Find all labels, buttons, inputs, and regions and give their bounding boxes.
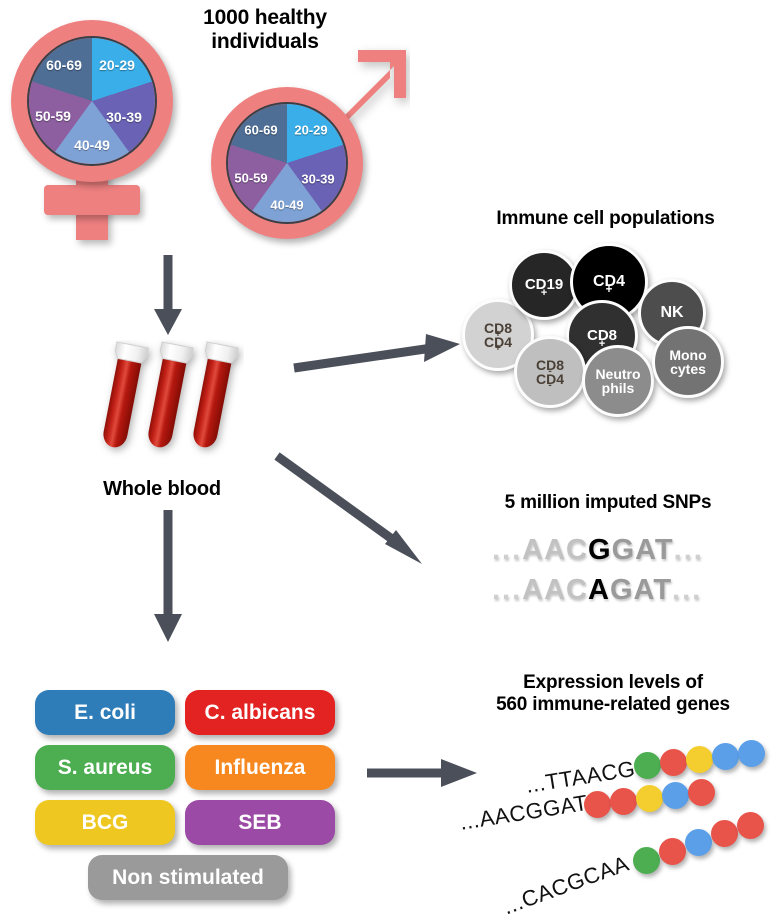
snp-row1-right: GAT (612, 534, 674, 566)
snp-title: 5 million imputed SNPs (458, 492, 758, 514)
stimulus-seb[interactable]: SEB (185, 800, 335, 845)
cell-monocytes-line2: cytes (669, 362, 706, 376)
immune-populations-title: Immune cell populations (443, 208, 768, 230)
expression-strand-2-bead-2 (610, 788, 637, 815)
expression-strand-2-sequence: ...AACGGAT (458, 790, 590, 836)
male-pie-label-60-69: 60-69 (244, 123, 277, 138)
snp-row1-left: AAC (522, 534, 588, 566)
female-pie-label-40-49: 40-49 (74, 137, 110, 153)
female-pie-label-20-29: 20-29 (99, 57, 135, 73)
expression-title-line2: 560 immune-related genes (458, 694, 768, 716)
cell-cd8pos-cd4pos-line1: CD8+ (484, 321, 512, 335)
cell-monocytes: Mono cytes (652, 326, 724, 398)
page-title-line1: 1000 healthy (170, 6, 360, 30)
female-pie-label-30-39: 30-39 (106, 109, 142, 125)
snp-row1-prefix: ... (492, 534, 522, 566)
snp-row2-variant: A (588, 574, 610, 606)
whole-blood-label: Whole blood (62, 478, 262, 501)
male-pie-label-50-59: 50-59 (234, 171, 267, 186)
expression-strand-3-bead-3 (685, 829, 712, 856)
stimulus-non-stimulated[interactable]: Non stimulated (88, 855, 288, 900)
snp-row1-suffix: ... (674, 534, 704, 566)
cell-cd8pos-label: CD8+ (587, 328, 617, 343)
cell-nk-label: NK (660, 305, 683, 321)
stimulus-bcg-label: BCG (82, 811, 129, 835)
expression-strand-2-bead-3 (636, 785, 663, 812)
expression-strand-3-bead-1 (633, 847, 660, 874)
cell-neutrophils: Neutro phils (582, 345, 654, 417)
cell-cd8neg-cd4neg-line2: CD4- (536, 372, 564, 386)
expression-strand-2-bead-5 (688, 779, 715, 806)
arrow-blood-to-snp (275, 452, 450, 582)
stimulus-s-aureus-label: S. aureus (58, 756, 153, 780)
expression-strand-3-bead-2 (659, 838, 686, 865)
stimulus-e-coli[interactable]: E. coli (35, 690, 175, 735)
expression-strand-2-bead-4 (662, 782, 689, 809)
stimulus-bcg[interactable]: BCG (35, 800, 175, 845)
female-pie-label-50-59: 50-59 (35, 108, 71, 124)
whole-blood-tubes (94, 340, 244, 465)
stimulus-s-aureus[interactable]: S. aureus (35, 745, 175, 790)
cell-neutrophils-line2: phils (595, 381, 640, 395)
male-pie-label-40-49: 40-49 (270, 198, 303, 213)
stimulus-influenza-label: Influenza (214, 756, 305, 780)
arrow-cohort-to-blood (148, 255, 188, 345)
snp-sequence-row-2: ...AACAGAT... (492, 574, 702, 607)
cell-cd19pos-label: CD19+ (525, 277, 563, 292)
female-symbol-ring: 20-29 30-39 40-49 50-59 60-69 (11, 20, 173, 182)
stimulus-c-albicans-label: C. albicans (205, 701, 316, 725)
stimulus-e-coli-label: E. coli (74, 701, 136, 725)
male-symbol-ring: 20-29 30-39 40-49 50-59 60-69 (211, 87, 363, 239)
arrow-blood-to-stimuli (148, 510, 188, 650)
expression-title: Expression levels of 560 immune-related … (458, 672, 768, 716)
female-symbol-crossbar (44, 185, 140, 215)
female-gender-symbol: 20-29 30-39 40-49 50-59 60-69 (8, 14, 188, 244)
expression-strand-1-bead-1 (634, 752, 661, 779)
cell-neutrophils-line1: Neutro (595, 367, 640, 381)
expression-strand-2-bead-1 (584, 791, 611, 818)
cell-cd19pos: CD19+ (509, 250, 579, 320)
expression-strand-1-bead-4 (712, 743, 739, 770)
male-gender-symbol: 20-29 30-39 40-49 50-59 60-69 (205, 45, 410, 255)
expression-strand-3-sequence: ...CACGCAA (500, 851, 633, 921)
expression-strands: ...TTAACGG ...AACGGAT ...CACGCAA (448, 735, 768, 915)
stimulus-c-albicans[interactable]: C. albicans (185, 690, 335, 735)
snp-sequence-row-1: ...AACGGAT... (492, 534, 704, 567)
male-pie-label-30-39: 30-39 (301, 172, 334, 187)
arrow-blood-to-immune (292, 330, 467, 380)
expression-strand-3-bead-4 (711, 820, 738, 847)
expression-strand-1-bead-5 (738, 740, 765, 767)
immune-cell-cluster: CD8+ CD4+ CD19+ CD4+ CD8+ NK CD8- CD4- (462, 243, 762, 423)
cell-cd8pos-cd4pos-line2: CD4+ (484, 335, 512, 349)
snp-row2-prefix: ... (492, 574, 522, 606)
snp-row2-right: GAT (610, 574, 672, 606)
stimulus-influenza[interactable]: Influenza (185, 745, 335, 790)
cell-monocytes-line1: Mono (669, 348, 706, 362)
cell-cd8neg-cd4neg-line1: CD8- (536, 358, 564, 372)
expression-strand-1-bead-3 (686, 746, 713, 773)
snp-row1-variant: G (588, 534, 612, 566)
female-pie-label-60-69: 60-69 (46, 57, 82, 73)
expression-strand-1-bead-2 (660, 749, 687, 776)
expression-strand-3-bead-5 (737, 812, 764, 839)
figure-canvas: 1000 healthy individuals 20-29 30-39 40-… (0, 0, 771, 922)
snp-row2-left: AAC (522, 574, 588, 606)
expression-title-line1: Expression levels of (458, 672, 768, 694)
male-pie-label-20-29: 20-29 (294, 123, 327, 138)
cell-cd8neg-cd4neg: CD8- CD4- (514, 336, 586, 408)
stimulus-seb-label: SEB (238, 811, 281, 835)
stimulus-non-stimulated-label: Non stimulated (112, 866, 264, 890)
cell-cd4pos-label: CD4+ (593, 274, 625, 290)
snp-row2-suffix: ... (672, 574, 702, 606)
